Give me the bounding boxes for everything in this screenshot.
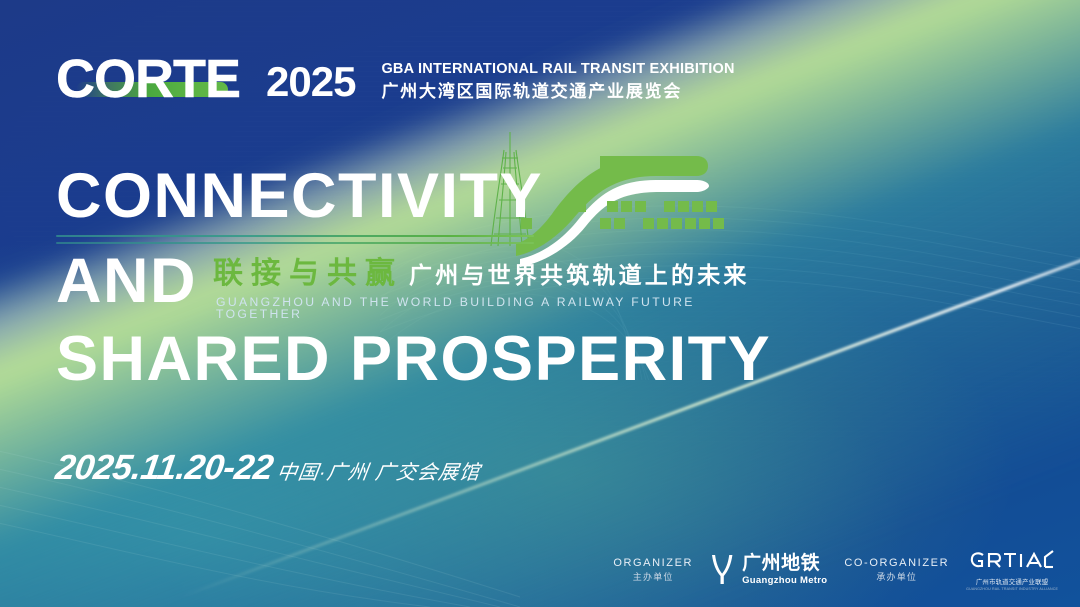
background-bottom-waves [0,407,700,607]
poster-headline: CONNECTIVITY AND 联接与共赢 广州与世界共筑轨道上的未来 GUA… [56,166,776,391]
coorganizer-label-en: CO-ORGANIZER [844,556,949,570]
headline-chinese-block: 联接与共赢 广州与世界共筑轨道上的未来 GUANGZHOU AND THE WO… [213,251,776,320]
coorganizer-name-cn: 广州市轨道交通产业联盟 [966,579,1058,587]
poster-footer: ORGANIZER 主办单位 广州地铁 Guangzhou Metro CO-O… [613,549,1058,591]
headline-cn-slogan: 联接与共赢 [213,259,403,289]
grtia-mark-icon [969,549,1055,572]
event-poster: CORTE 2025 GBA INTERNATIONAL RAIL TRANSI… [0,0,1080,607]
event-year: 2025 [266,61,355,106]
coorganizer-name-en: GUANGZHOU RAIL TRANSIT INDUSTRY ALLIANCE [966,587,1058,591]
exhibition-title-block: GBA INTERNATIONAL RAIL TRANSIT EXHIBITIO… [381,60,734,106]
coorganizer-label-cn: 承办单位 [844,572,949,584]
poster-header: CORTE 2025 GBA INTERNATIONAL RAIL TRANSI… [56,52,735,106]
headline-sub-en: GUANGZHOU AND THE WORLD BUILDING A RAILW… [216,296,776,320]
headline-line-3: SHARED PROSPERITY [56,329,776,391]
exhibition-title-cn: 广州大湾区国际轨道交通产业展览会 [381,82,734,102]
event-venue: 中国·广州 广交会展馆 [276,463,482,483]
organizer-name-cn: 广州地铁 [742,554,827,573]
event-date: 2025.11.20-22 [54,450,276,485]
event-details: 2025.11.20-22 中国·广州 广交会展馆 [56,450,480,485]
organizer-label-en: ORGANIZER [613,556,693,570]
guangzhou-metro-logo: 广州地铁 Guangzhou Metro [710,554,827,586]
logo-wordmark: CORTE [56,52,240,106]
headline-line-2: AND [56,251,197,313]
headline-cn-subtitle: 广州与世界共筑轨道上的未来 [409,264,750,287]
organizer-label-cn: 主办单位 [613,572,693,584]
organizer-name-en: Guangzhou Metro [742,576,827,586]
exhibition-title-en: GBA INTERNATIONAL RAIL TRANSIT EXHIBITIO… [381,60,734,78]
grtia-logo: 广州市轨道交通产业联盟 GUANGZHOU RAIL TRANSIT INDUS… [966,549,1058,591]
corte-logo: CORTE [56,52,240,106]
guangzhou-metro-mark-icon [710,554,735,585]
rail-divider [56,234,534,246]
organizer-label: ORGANIZER 主办单位 [613,556,693,584]
headline-line-1: CONNECTIVITY [56,166,776,228]
coorganizer-label: CO-ORGANIZER 承办单位 [844,556,949,584]
